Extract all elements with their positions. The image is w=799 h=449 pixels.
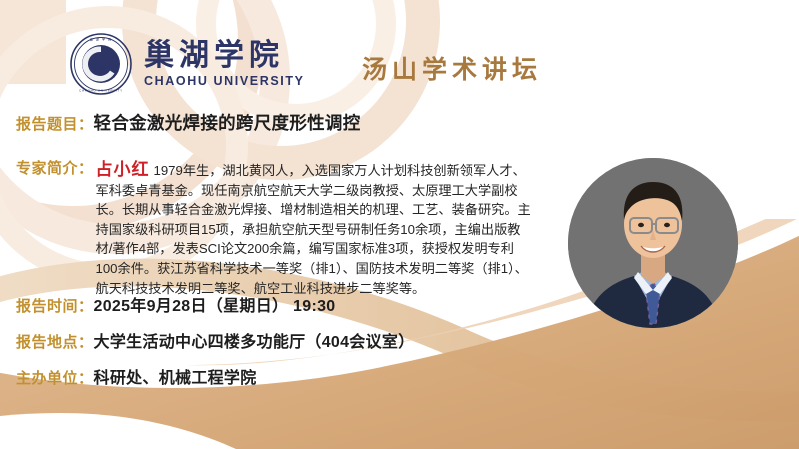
- poster-canvas: 1977 巢 湖 学 院 CHAOHU UNIVERSITY 巢湖学院 CHAO…: [0, 0, 799, 449]
- lecture-time-row: 报告时间： 2025年9月28日（星期日） 19:30: [16, 292, 335, 316]
- lecture-time-label: 报告时间：: [16, 295, 94, 316]
- lecture-place-row: 报告地点： 大学生活动中心四楼多功能厅（404会议室）: [16, 328, 415, 352]
- lecture-host-value: 科研处、机械工程学院: [94, 364, 257, 388]
- lecture-host-row: 主办单位： 科研处、机械工程学院: [16, 364, 257, 388]
- speaker-bio-body: 占小红1979年生，湖北黄冈人，入选国家万人计划科技创新领军人才、军科委卓青基金…: [96, 155, 534, 298]
- speaker-portrait-photo: [568, 158, 738, 328]
- poster-content: 报告题目： 轻合金激光焊接的跨尺度形性调控 专家简介： 占小红1979年生，湖北…: [0, 0, 799, 449]
- speaker-portrait-illustration: [568, 158, 738, 328]
- lecture-title-value: 轻合金激光焊接的跨尺度形性调控: [94, 110, 361, 135]
- lecture-time-value: 2025年9月28日（星期日） 19:30: [94, 292, 336, 316]
- lecture-title-label: 报告题目：: [16, 113, 94, 134]
- lecture-place-label: 报告地点：: [16, 331, 94, 352]
- speaker-bio-label: 专家简介：: [16, 155, 94, 178]
- speaker-bio-text: 1979年生，湖北黄冈人，入选国家万人计划科技创新领军人才、军科委卓青基金。现任…: [96, 163, 531, 296]
- lecture-host-label: 主办单位：: [16, 367, 94, 388]
- speaker-name: 占小红: [96, 160, 150, 179]
- lecture-title-row: 报告题目： 轻合金激光焊接的跨尺度形性调控: [16, 110, 361, 135]
- speaker-bio-row: 专家简介： 占小红1979年生，湖北黄冈人，入选国家万人计划科技创新领军人才、军…: [16, 155, 541, 298]
- lecture-place-value: 大学生活动中心四楼多功能厅（404会议室）: [94, 328, 415, 352]
